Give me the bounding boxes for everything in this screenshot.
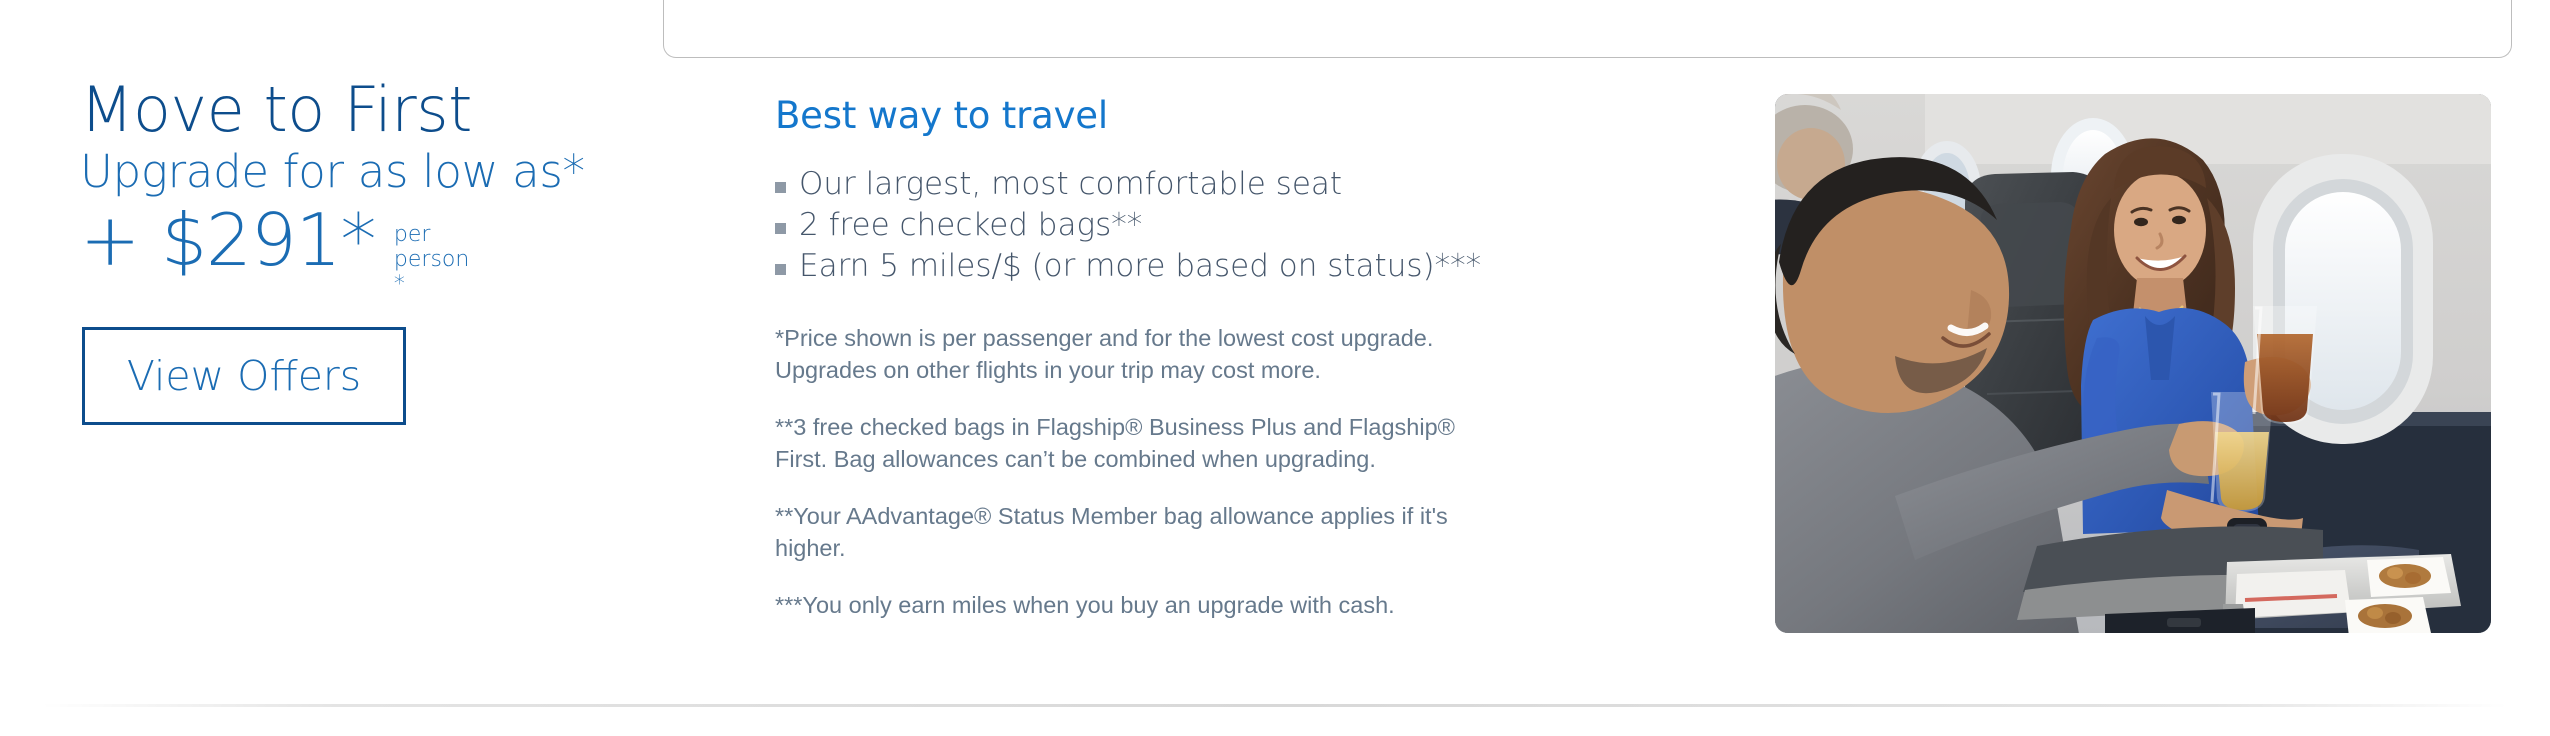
benefits-column: Best way to travel Our largest, most com… (775, 94, 1535, 622)
price-unit-line1: per (394, 222, 431, 247)
price-unit-line2: person (394, 247, 469, 272)
list-item: Our largest, most comfortable seat (775, 164, 1535, 205)
fineprint-miles: ***You only earn miles when you buy an u… (775, 590, 1475, 621)
upper-card-bottom-edge (663, 0, 2512, 58)
square-bullet-icon (775, 264, 786, 275)
price-unit-asterisk: * (394, 272, 456, 297)
price-unit: per person * (394, 222, 456, 298)
list-item: Earn 5 miles/$ (or more based on status)… (775, 246, 1535, 287)
price-block: + $291* per person * (80, 204, 640, 296)
square-bullet-icon (775, 182, 786, 193)
benefits-list: Our largest, most comfortable seat 2 fre… (775, 164, 1535, 287)
fineprint-bags: **3 free checked bags in Flagship® Busin… (775, 412, 1475, 475)
benefits-heading: Best way to travel (775, 94, 1535, 138)
list-item: 2 free checked bags** (775, 205, 1535, 246)
view-offers-button[interactable]: View Offers (82, 327, 406, 425)
square-bullet-icon (775, 223, 786, 234)
promo-title: Move to First (80, 78, 640, 141)
section-divider (42, 704, 2508, 707)
cabin-photo (1775, 94, 2491, 633)
promo-section: Move to First Upgrade for as low as* + $… (0, 0, 2550, 736)
promo-column: Move to First Upgrade for as low as* + $… (80, 78, 640, 296)
price-amount: + $291* (80, 204, 375, 276)
fineprint-aadvantage: **Your AAdvantage® Status Member bag all… (775, 501, 1475, 564)
fineprint-price: *Price shown is per passenger and for th… (775, 323, 1475, 386)
benefit-label: Earn 5 miles/$ (or more based on status)… (799, 248, 1481, 284)
benefit-label: Our largest, most comfortable seat (799, 166, 1342, 202)
benefit-label: 2 free checked bags** (799, 207, 1142, 243)
promo-subtitle: Upgrade for as low as* (80, 147, 640, 197)
